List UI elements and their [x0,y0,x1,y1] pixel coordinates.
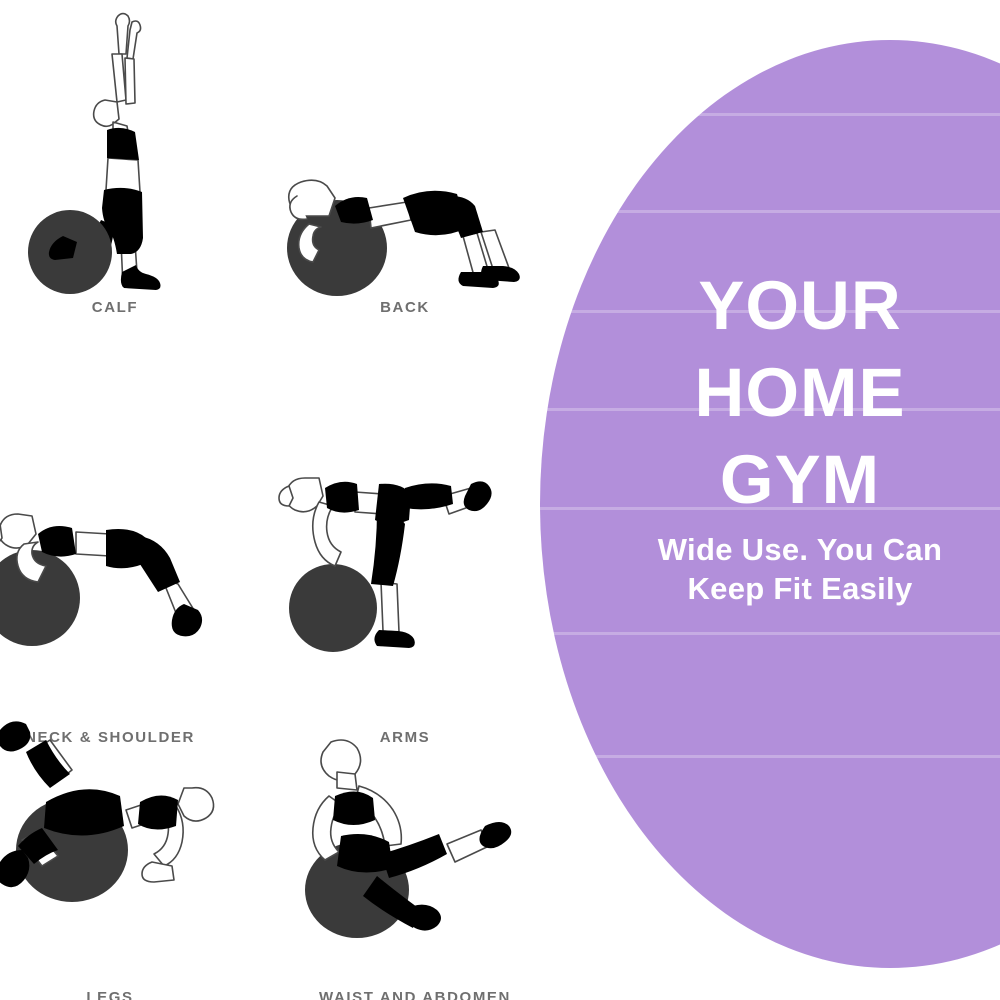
title-line-1: YOUR [600,270,1000,341]
back-exercise-illustration [275,10,535,280]
neck-figure-legs [136,536,180,592]
exercise-ball [289,564,377,652]
arms-exercise-icon [275,440,535,710]
arms-figure-raised-shoe [464,481,492,511]
waist-figure-top [333,791,375,825]
exercise-label-back: BACK [275,299,535,316]
neck-shoulder-exercise-icon [0,440,240,710]
arms-figure-standing-leg [371,510,405,586]
home-gym-poster: YOUR HOME GYM Wide Use. You Can Keep Fit… [0,0,1000,1000]
arms-figure-raised-leg [405,483,453,509]
waist-abdomen-exercise-icon [285,700,545,970]
legs-figure-top [138,795,178,829]
waist-abdomen-exercise-illustration [285,700,545,970]
exercise-cell-calf: CALF [0,10,245,330]
title-line-3: GYM [600,444,1000,515]
exercise-cell-waist-abdomen: WAIST AND ABDOMEN [285,700,545,1000]
subtitle-line-2: Keep Fit Easily [600,570,1000,609]
legs-figure-shorts [44,789,124,835]
exercise-cell-legs: LEGS [0,700,240,1000]
exercise-label-legs: LEGS [0,989,240,1000]
exercise-label-calf: CALF [0,299,245,316]
title-line-2: HOME [600,357,1000,428]
subtitle-block: Wide Use. You Can Keep Fit Easily [600,531,1000,609]
arms-figure-floor-shoe [374,630,414,648]
waist-figure-floor-shoe [409,905,441,931]
legs-figure-raised-shoe [0,721,30,751]
headline-block: YOUR HOME GYM Wide Use. You Can Keep Fit… [600,270,1000,609]
calf-figure-top [107,128,139,160]
neck-shoulder-exercise-illustration [0,440,240,710]
arms-exercise-illustration [275,440,535,710]
waist-figure-raised-shoe [479,822,511,848]
panel-divider-line-6 [540,632,1000,635]
back-exercise-icon [275,10,535,280]
panel-divider-line-2 [540,210,1000,213]
back-figure-shoe-2 [481,266,520,282]
panel-divider-line-1 [540,113,1000,116]
calf-exercise-icon [0,10,245,280]
calf-exercise-illustration [0,10,245,280]
legs-figure-lower-shoe [0,850,29,887]
arms-figure-top [325,482,359,513]
exercise-cell-back: BACK [275,10,535,330]
panel-divider-line-7 [540,755,1000,758]
neck-figure-top [38,526,76,557]
subtitle-line-1: Wide Use. You Can [600,531,1000,570]
legs-exercise-icon [0,700,240,970]
legs-exercise-illustration [0,700,240,970]
exercise-label-waist-abdomen: WAIST AND ABDOMEN [285,989,545,1000]
